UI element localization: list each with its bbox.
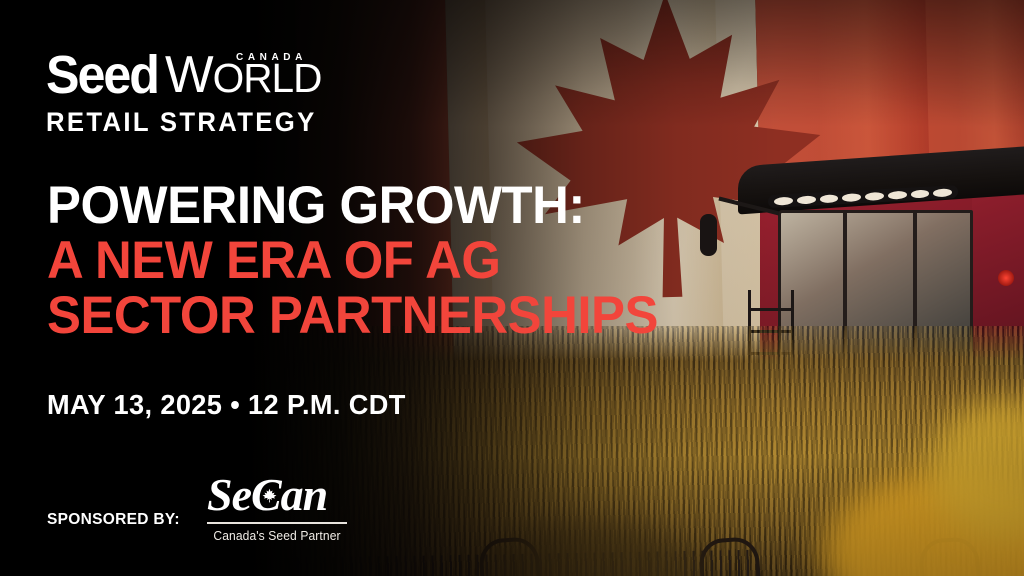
event-dateline: MAY 13, 2025 • 12 P.M. CDT: [47, 389, 406, 421]
logo-canada-text: CANADA: [236, 52, 307, 63]
headline-line-3: SECTOR PARTNERSHIPS: [47, 288, 658, 343]
webinar-promo-banner: Seed WORLD CANADA RETAIL STRATEGY POWERI…: [0, 0, 1024, 576]
headline-block: POWERING GROWTH: A NEW ERA OF AG SECTOR …: [47, 178, 683, 343]
logo-world-initial: W: [165, 46, 213, 104]
sponsored-by-label: SPONSORED BY:: [47, 511, 180, 529]
secan-logo: SeCan Canada's Seed Partner: [207, 472, 347, 543]
headline-line-2: A NEW ERA OF AG: [47, 233, 658, 288]
logo-seed-text: Seed: [46, 52, 158, 100]
logo-wordmark: Seed WORLD CANADA: [46, 48, 325, 100]
headline-line-1: POWERING GROWTH:: [47, 178, 658, 233]
banner-content: Seed WORLD CANADA RETAIL STRATEGY POWERI…: [0, 0, 1024, 576]
logo-subtitle: RETAIL STRATEGY: [46, 107, 317, 138]
secan-wordmark: SeCan: [207, 472, 347, 518]
secan-tagline: Canada's Seed Partner: [212, 528, 342, 543]
secan-maple-leaf-icon: [262, 488, 277, 503]
seed-world-canada-logo: Seed WORLD CANADA RETAIL STRATEGY: [46, 48, 325, 138]
secan-divider: [207, 522, 347, 524]
